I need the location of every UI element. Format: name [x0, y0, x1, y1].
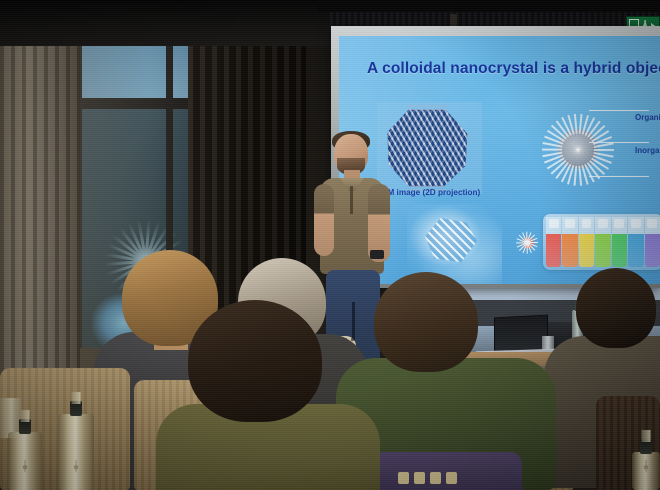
- bottle-emblem: [69, 460, 83, 472]
- audience-person-3: [170, 300, 360, 490]
- water-bottle: [8, 432, 42, 490]
- quantum-dot-vial: [562, 217, 577, 267]
- audience-head: [374, 272, 478, 372]
- vial-fill: [546, 234, 561, 267]
- speaker-shirt-placket: [350, 186, 353, 214]
- leader-line-organic: [589, 110, 649, 111]
- vial-fill: [612, 234, 627, 267]
- bottle-emblem: [639, 460, 653, 472]
- quantum-dot-vial: [628, 217, 643, 267]
- water-bottle: [632, 452, 660, 490]
- ligand-sphere-diagram: [535, 106, 621, 192]
- marking: [398, 472, 409, 484]
- bottle-emblem: [18, 460, 32, 472]
- marking: [414, 472, 425, 484]
- vial-fill: [645, 234, 660, 267]
- quantum-dot-vial: [546, 217, 561, 267]
- presenter-clicker: [370, 250, 384, 259]
- audience-head: [576, 268, 656, 348]
- label-organic: Organic: [635, 113, 660, 122]
- speaker-left-arm: [314, 184, 334, 256]
- vial-fill: [628, 234, 643, 267]
- quantum-dot-vial: [645, 217, 660, 267]
- leader-line-inorganic: [589, 142, 649, 143]
- vial-fill: [595, 234, 610, 267]
- water-bottle: [58, 414, 94, 490]
- purple-garment: [372, 452, 522, 490]
- uv-lamp-icon: [517, 232, 539, 254]
- quantum-dot-vial: [595, 217, 610, 267]
- curtain-left: [0, 0, 80, 420]
- audience-head: [188, 300, 322, 422]
- garment-markings: [398, 472, 457, 484]
- leader-line-lower: [589, 176, 649, 177]
- ceiling-beam: [318, 0, 660, 12]
- vial-fill: [579, 234, 594, 267]
- label-inorganic: Inorgan: [635, 146, 660, 155]
- marking: [446, 472, 457, 484]
- slide-title: A colloidal nanocrystal is a hybrid obje…: [367, 60, 657, 78]
- quantum-dot-vial: [579, 217, 594, 267]
- quantum-dot-vial: [612, 217, 627, 267]
- vial-fill: [562, 234, 577, 267]
- quantum-dot-vial-rack: [543, 214, 660, 270]
- presentation-photo: A colloidal nanocrystal is a hybrid obje…: [0, 0, 660, 490]
- marking: [430, 472, 441, 484]
